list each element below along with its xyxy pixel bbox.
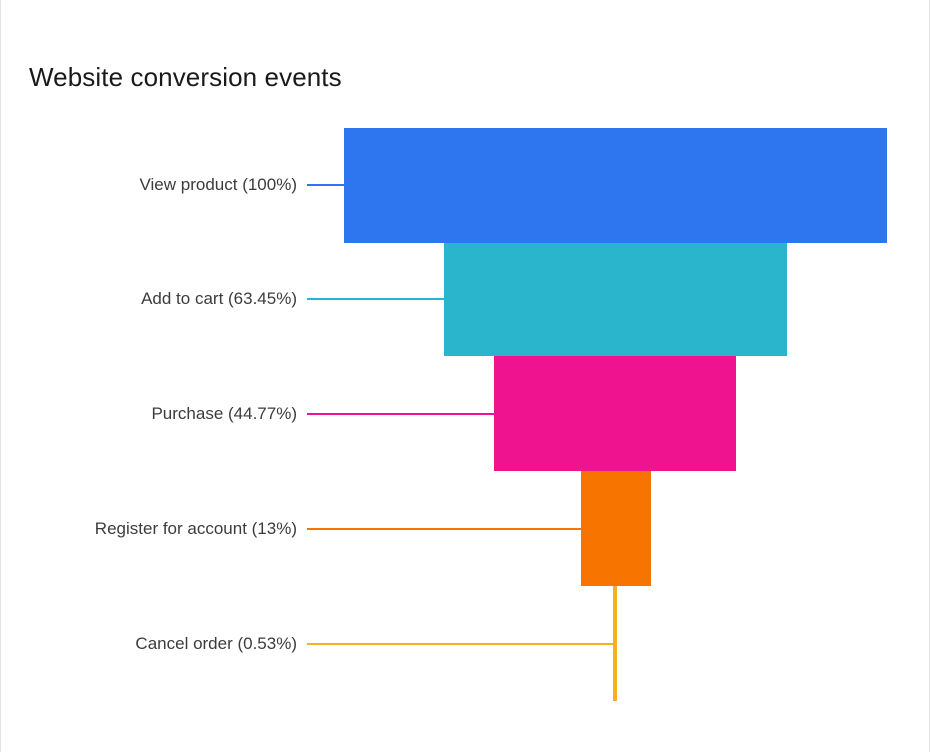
funnel-plot-area: View product (100%) Add to cart (63.45%)… <box>1 0 930 752</box>
funnel-bar[interactable] <box>613 586 617 701</box>
funnel-stage-label: Cancel order (0.53%) <box>1 633 297 655</box>
funnel-connector-line <box>307 643 613 645</box>
funnel-chart: Website conversion events View product (… <box>0 0 930 752</box>
funnel-stage: Cancel order (0.53%) <box>1 0 930 752</box>
